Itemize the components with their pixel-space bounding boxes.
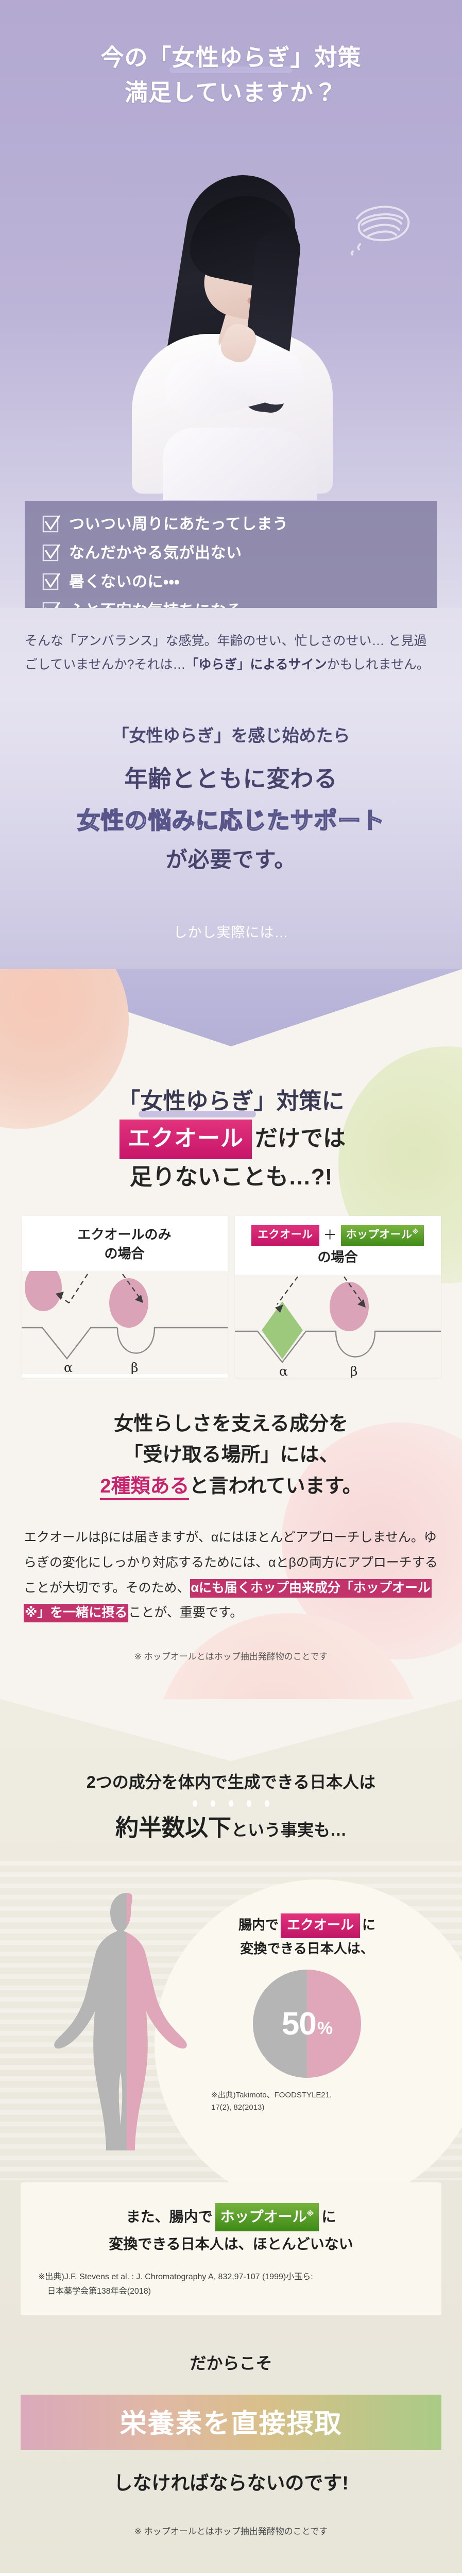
diagram-card-title-line2: の場合 [27, 1244, 223, 1264]
hopall-line1-pre: また、腸内で [126, 2209, 213, 2225]
check-square-icon [42, 573, 60, 590]
receptor-diagram-equol-hopall: α β [235, 1275, 441, 1378]
landing-page: 今の「女性ゆらぎ」対策 満足していますか？ [0, 0, 462, 2573]
hopall-molecule-icon [262, 1301, 303, 1359]
equol-molecule-icon [330, 1282, 369, 1331]
arrow-line-alpha [277, 1277, 298, 1304]
membrane-beta [117, 1328, 228, 1353]
checklist-item[interactable]: なんだかやる気が出ない [42, 544, 419, 562]
hopall-stat-line2: 変換できる日本人は、ほとんどいない [38, 2231, 424, 2257]
diagram-card-title-line1: エクオールのみ [27, 1225, 223, 1245]
equol-molecule-icon [25, 1271, 62, 1311]
stats-row: 腸内でエクオールに 変換できる日本人は、 50% ※出典)Takimoto、FO… [0, 1861, 462, 2180]
checklist-item-label: ついつい周りにあたってしまう [69, 516, 288, 533]
pie-chart: 50% [253, 1970, 361, 2078]
receptor-heading-line1: 女性らしさを支える成分を [10, 1409, 452, 1440]
membrane-alpha [22, 1328, 117, 1359]
receptor-label-beta: β [350, 1364, 357, 1378]
stats-heading-rest: という事実も… [231, 1821, 347, 1839]
support-line-3: 女性の悩みに応じたサポート [0, 802, 462, 835]
checklist-item-label: 暑くないのに・・・ [69, 573, 180, 590]
checklist-item[interactable]: ふと不安な気持ちになる [42, 602, 419, 608]
equol-heading: 「女性ゆらぎ」対策に エクオールだけでは 足りないことも…?! [0, 1046, 462, 1204]
support-message-section: 「女性ゆらぎ」を感じ始めたら 年齢とともに変わる 女性の悩みに応じたサポート が… [0, 695, 462, 969]
emphasis-dots [0, 1800, 462, 1807]
pie-value-unit: % [317, 2019, 332, 2039]
equol-molecule-icon [109, 1278, 148, 1328]
receptor-heading: 女性らしさを支える成分を 「受け取る場所」には、 2種類あると言われています。 [0, 1391, 462, 1507]
stats-heading-line1: 2つの成分を体内で生成できる日本人は [0, 1761, 462, 1796]
statistics-section: 2つの成分を体内で生成できる日本人は 約半数以下という事実も… [0, 1699, 462, 2573]
receptor-label-alpha: α [279, 1364, 288, 1378]
emphasis-dot [247, 1800, 251, 1807]
dakarakoso-text: だからこそ [0, 2315, 462, 2395]
diagram-card-title-line2: の場合 [240, 1248, 436, 1267]
diagram-card-equol-plus-hopall: エクオール ＋ ホップオール※ の場合 [235, 1216, 441, 1378]
support-however-text: しかし実際には… [0, 874, 462, 941]
receptor-label-alpha: α [64, 1360, 73, 1374]
stat-citation-line1: ※出典)Takimoto、FOODSTYLE21, [211, 2089, 405, 2102]
receptor-body-b: ことが、重要です。 [128, 1605, 243, 1620]
hopall-line1-post: に [321, 2209, 336, 2225]
diagram-card-title: エクオール ＋ ホップオール※ の場合 [235, 1216, 441, 1275]
hopall-stat-card: また、腸内でホップオール※に 変換できる日本人は、ほとんどいない ※出典)J.F… [21, 2182, 441, 2315]
hopall-stat-line1: また、腸内でホップオール※に [38, 2203, 424, 2231]
lead-text-bold: 「ゆらぎ」によるサイン [185, 657, 327, 672]
hero-title-suffix: 」対策 [290, 44, 362, 71]
equol-head-highlight: 女性ゆらぎ [141, 1083, 254, 1120]
equol-chip: エクオール [119, 1120, 252, 1160]
receptor-body-paragraph: エクオールはβには届きますが、αにはほとんどアプローチしません。ゆらぎの変化にし… [0, 1507, 462, 1629]
final-banner: 栄養素を直接摂取 [21, 2395, 441, 2450]
emphasis-dot [265, 1800, 269, 1807]
check-square-icon [42, 544, 60, 562]
support-line-4: が必要です。 [0, 842, 462, 874]
equol-section: 「女性ゆらぎ」対策に エクオールだけでは 足りないことも…?! エクオールのみ … [0, 969, 462, 1699]
symptom-checklist: ついつい周りにあたってしまう なんだかやる気が出ない 暑くないのに・・・ ふと不… [25, 501, 437, 608]
stat-citation: ※出典)Takimoto、FOODSTYLE21, 17(2), 82(2013… [209, 2089, 405, 2114]
receptor-heading-line2: 「受け取る場所」には、 [10, 1439, 452, 1471]
scribble-thought-icon [341, 195, 419, 257]
human-body-silhouette-icon [49, 1889, 204, 2159]
leg-shape [163, 428, 317, 500]
receptor-diagram-equol-only: α β [22, 1271, 228, 1374]
hopall-citation-line1: ※出典)J.F. Stevens et al. : J. Chromatogra… [38, 2273, 313, 2281]
arrow-line-alpha [69, 1274, 88, 1303]
lead-paragraph: そんな「アンバランス」な感覚。年齢のせい、忙しさのせい… と見過ごしていませんか… [25, 630, 437, 676]
stat-line-1-post: に [362, 1917, 375, 1933]
diagram-card-body: α β [235, 1275, 441, 1378]
hero-title-line2: 満足していますか？ [0, 75, 462, 110]
membrane-beta [336, 1331, 441, 1357]
receptor-heading-line3: と言われています。 [189, 1476, 362, 1497]
stat-line-2: 変換できる日本人は、 [209, 1938, 405, 1960]
v-divider-cream [0, 1699, 462, 1761]
checklist-item-label: ふと不安な気持ちになる [69, 602, 242, 608]
equol-head-line3: 足りないことも…?! [0, 1159, 462, 1195]
pie-chart-value: 50% [253, 1970, 361, 2078]
tag-hopall: ホップオール※ [341, 1225, 424, 1246]
checklist-item[interactable]: ついつい周りにあたってしまう [42, 515, 419, 533]
hero-section: 今の「女性ゆらぎ」対策 満足していますか？ [0, 0, 462, 608]
hopall-citation-line2: 日本薬学会第138年会(2018) [38, 2284, 424, 2299]
checklist-item-label: なんだかやる気が出ない [69, 545, 242, 562]
emphasis-dot [229, 1800, 233, 1807]
equol-head-prefix: 「 [118, 1089, 141, 1114]
diagram-card-body: α β [22, 1271, 228, 1374]
check-square-icon [42, 515, 60, 533]
stats-heading-strong: 約半数以下 [115, 1815, 231, 1841]
diagram-card-title: エクオールのみ の場合 [22, 1216, 228, 1271]
silhouette-right-half [127, 1889, 204, 2157]
plus-icon: ＋ [323, 1226, 337, 1245]
receptor-heading-number: 2種類ある [100, 1476, 189, 1500]
receptor-label-beta: β [131, 1360, 138, 1374]
stat-line-1-pre: 腸内で [238, 1917, 279, 1933]
hero-photo-woman [101, 170, 369, 489]
hopall-chip: ホップオール※ [215, 2203, 319, 2231]
support-line-1: 「女性ゆらぎ」を感じ始めたら [0, 722, 462, 747]
hopall-citation: ※出典)J.F. Stevens et al. : J. Chromatogra… [38, 2270, 424, 2299]
stat-line-1: 腸内でエクオールに [209, 1913, 405, 1938]
equol-head-line2: だけでは [255, 1126, 346, 1151]
final-subtext: しなければならないのです! [0, 2450, 462, 2495]
page-title: 今の「女性ゆらぎ」対策 満足していますか？ [0, 0, 462, 111]
support-line-2: 年齢とともに変わる [0, 760, 462, 793]
hero-title-highlight: 女性ゆらぎ [172, 40, 290, 75]
pie-value-number: 50 [282, 2006, 316, 2042]
final-banner-text: 栄養素を直接摂取 [119, 2409, 342, 2439]
stats-heading-line2: 約半数以下という事実も… [0, 1808, 462, 1861]
emphasis-dot [211, 1800, 215, 1807]
hopall-footnote: ※ ホップオールとはホップ抽出発酵物のことです [0, 1629, 462, 1685]
silhouette-left-half [49, 1889, 127, 2157]
check-square-icon [42, 602, 60, 608]
diagram-card-equol-only: エクオールのみ の場合 [22, 1216, 228, 1378]
tag-equol: エクオール [251, 1225, 319, 1246]
equol-head-suffix: 」対策に [254, 1089, 345, 1114]
hero-title-prefix: 今の「 [100, 44, 172, 71]
checklist-item[interactable]: 暑くないのに・・・ [42, 573, 419, 590]
stat-citation-line2: 17(2), 82(2013) [211, 2102, 405, 2114]
emphasis-dot [193, 1800, 197, 1807]
lead-text-b: かもしれません。 [327, 657, 430, 672]
stat-chip-equol: エクオール [281, 1913, 360, 1938]
stat-text-block: 腸内でエクオールに 変換できる日本人は、 50% ※出典)Takimoto、FO… [209, 1913, 405, 2114]
receptor-diagram-group: エクオールのみ の場合 [0, 1204, 462, 1391]
lead-paragraph-section: そんな「アンバランス」な感覚。年齢のせい、忙しさのせい… と見過ごしていませんか… [0, 608, 462, 695]
final-footnote: ※ ホップオールとはホップ抽出発酵物のことです [0, 2495, 462, 2573]
